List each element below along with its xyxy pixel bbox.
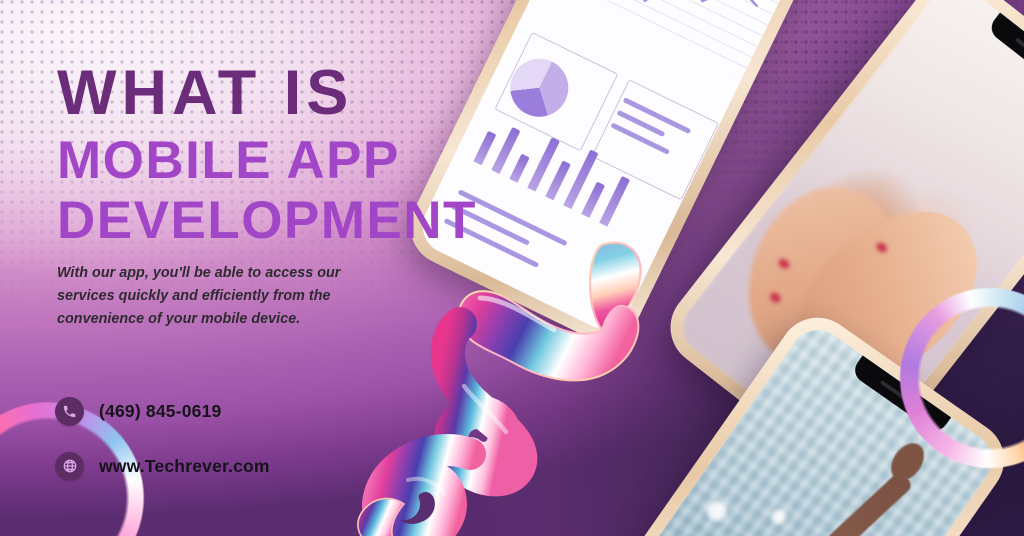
globe-icon bbox=[55, 452, 84, 481]
headline-block: WHAT IS MOBILE APP DEVELOPMENT bbox=[57, 62, 557, 247]
lede-paragraph: With our app, you'll be able to access o… bbox=[57, 262, 402, 331]
front-camera-icon bbox=[915, 404, 922, 411]
headline-line-1: WHAT IS bbox=[57, 62, 557, 125]
promo-banner: Business Dashboard 00 80 60 bbox=[0, 0, 1024, 536]
website-url: www.Techrever.com bbox=[99, 456, 270, 477]
phone-icon bbox=[55, 397, 84, 426]
contact-phone-row[interactable]: (469) 845-0619 bbox=[55, 391, 270, 431]
headline-line-3: DEVELOPMENT bbox=[57, 194, 557, 247]
phone-number: (469) 845-0619 bbox=[99, 401, 221, 422]
contact-website-row[interactable]: www.Techrever.com bbox=[55, 446, 270, 486]
contact-block: (469) 845-0619 www.Techrever.com bbox=[55, 391, 270, 501]
headline-line-2: MOBILE APP bbox=[57, 134, 557, 187]
